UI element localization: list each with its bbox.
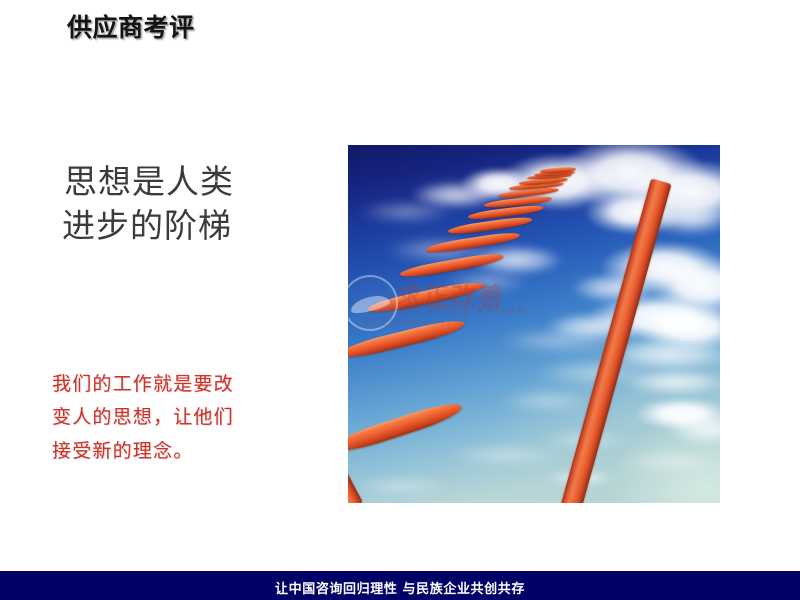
body-line-3: 接受新的理念。 [52,435,320,468]
ladder-rung [367,279,485,316]
footer-slogan: 让中国咨询回归理性 与民族企业共创共存 [0,578,800,597]
presentation-slide: 供应商考评 思想是人类 进步的阶梯 我们的工作就是要改 变人的思想，让他们 接受… [0,0,800,600]
footer-bar: 让中国咨询回归理性 与民族企业共创共存 [0,571,800,600]
headline-line-1: 思想是人类 [64,160,334,204]
ladder-rung [425,230,520,255]
page-title: 供应商考评 [67,12,195,43]
body-line-1: 我们的工作就是要改 [52,368,320,401]
body-line-2: 变人的思想，让他们 [52,401,320,434]
ladder-rung [399,251,504,280]
ladder-sky-photo: 求正改善 Qiu Zheng Kaizen 求正企业管理顾问有限公司 [348,145,720,503]
headline-block: 思想是人类 进步的阶梯 [64,160,334,247]
ladder-rung [447,215,532,236]
body-paragraph: 我们的工作就是要改 变人的思想，让他们 接受新的理念。 [52,368,320,468]
ladder-rung [348,398,464,457]
ladder-rung [348,316,466,362]
ladder-graphic [348,145,720,503]
ladder-rail-right [560,179,671,503]
headline-line-2: 进步的阶梯 [62,204,334,248]
